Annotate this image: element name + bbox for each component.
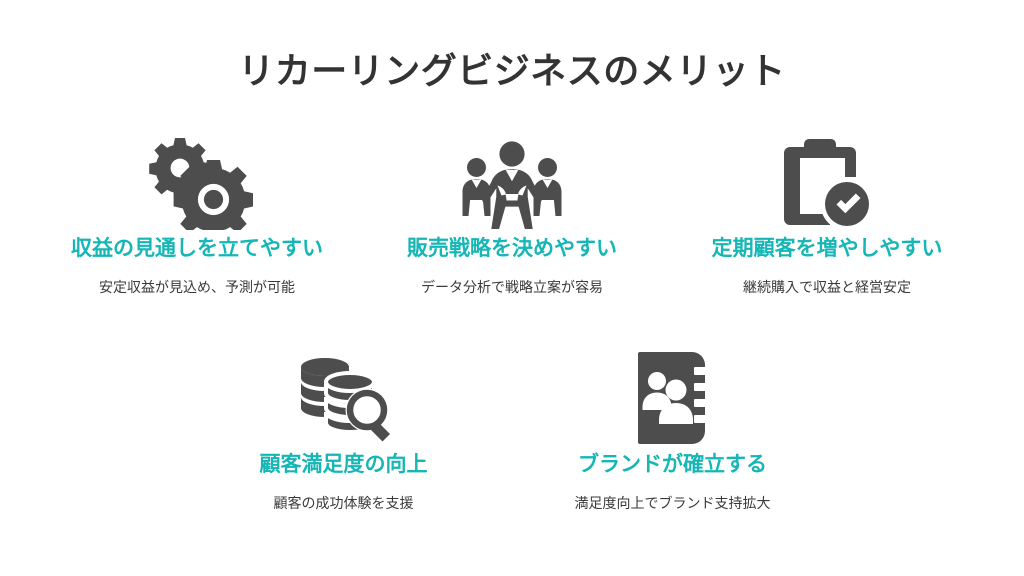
benefit-card-description: 継続購入で収益と経営安定 [743,278,911,296]
benefit-card-brand-establishment: ブランドが確立する 満足度向上でブランド支持拡大 [508,338,837,512]
benefit-card-sales-strategy: 販売戦略を決めやすい データ分析で戦略立案が容易 [355,122,670,296]
benefit-row-1: 収益の見通しを立てやすい 安定収益が見込め、予測が可能 [0,122,1024,296]
gears-icon [141,122,253,230]
benefit-card-customer-satisfaction: 顧客満足度の向上 顧客の成功体験を支援 [179,338,508,512]
business-team-icon [458,122,566,230]
benefit-card-title: ブランドが確立する [578,452,767,477]
benefit-card-description: 満足度向上でブランド支持拡大 [575,494,771,512]
benefit-card-title: 収益の見通しを立てやすい [71,236,323,261]
benefit-card-title: 顧客満足度の向上 [260,452,428,477]
benefit-card-description: 顧客の成功体験を支援 [274,494,414,512]
benefit-card-revenue-forecast: 収益の見通しを立てやすい 安定収益が見込め、予測が可能 [40,122,355,296]
benefit-card-title: 販売戦略を決めやすい [407,236,617,261]
benefit-card-description: データ分析で戦略立案が容易 [421,278,603,296]
slide-canvas: リカーリングビジネスのメリット 収益の見通しを立てやすい [0,0,1024,576]
benefit-card-description: 安定収益が見込め、予測が可能 [99,278,295,296]
address-book-icon [628,338,718,446]
benefit-card-title: 定期顧客を増やしやすい [712,236,943,261]
page-title: リカーリングビジネスのメリット [0,48,1024,93]
benefit-row-2: 顧客満足度の向上 顧客の成功体験を支援 [0,338,1020,512]
clipboard-check-icon [778,122,876,230]
database-search-icon [292,338,396,446]
benefit-card-recurring-customers: 定期顧客を増やしやすい 継続購入で収益と経営安定 [670,122,985,296]
